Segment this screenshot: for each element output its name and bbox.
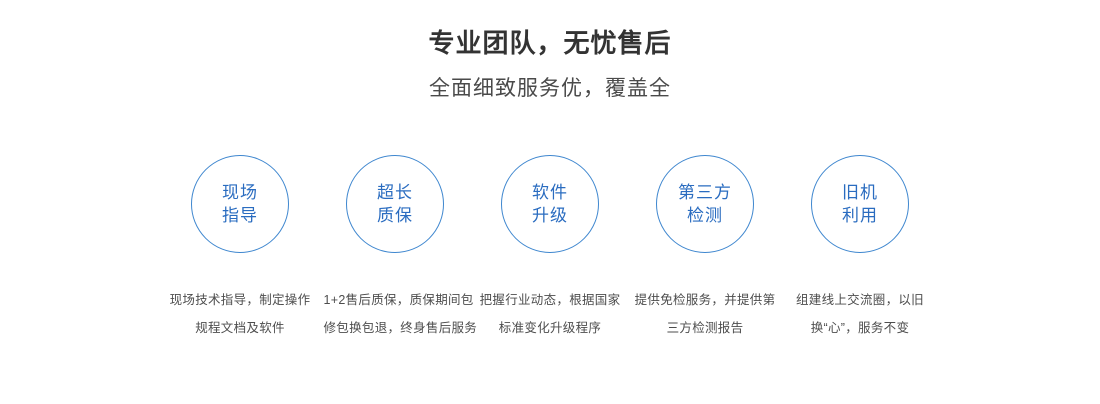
feature-description-line1: 1+2售后质保，质保期间包	[324, 286, 467, 314]
feature-description-line1: 提供免检服务，并提供第	[634, 286, 777, 314]
feature-item-extended-warranty: 超长 质保	[345, 155, 445, 253]
feature-item-third-party-inspection: 第三方 检测	[655, 155, 755, 253]
heading-block: 专业团队，无忧售后 全面细致服务优，覆盖全	[0, 0, 1100, 104]
feature-description-line1: 组建线上交流圈，以旧	[789, 286, 932, 314]
feature-circle-label-line2: 升级	[532, 204, 568, 227]
feature-circle-label-line1: 超长	[377, 181, 413, 204]
feature-circle-label-line2: 利用	[842, 204, 878, 227]
feature-circle-third-party-inspection[interactable]: 第三方 检测	[656, 155, 754, 253]
after-sales-service-section: 专业团队，无忧售后 全面细致服务优，覆盖全 现场 指导 超长 质保 软件 升级 …	[0, 0, 1100, 404]
feature-circle-label-line1: 旧机	[842, 181, 878, 204]
feature-description-on-site-guidance: 现场技术指导，制定操作 规程文档及软件	[169, 286, 312, 342]
feature-circle-old-machine-reuse[interactable]: 旧机 利用	[811, 155, 909, 253]
feature-description-software-upgrade: 把握行业动态，根据国家 标准变化升级程序	[479, 286, 622, 342]
feature-description-line2: 修包换包退，终身售后服务	[324, 314, 467, 342]
feature-item-software-upgrade: 软件 升级	[500, 155, 600, 253]
feature-description-line1: 把握行业动态，根据国家	[479, 286, 622, 314]
feature-circle-label-line2: 检测	[687, 204, 723, 227]
feature-circle-software-upgrade[interactable]: 软件 升级	[501, 155, 599, 253]
feature-circle-extended-warranty[interactable]: 超长 质保	[346, 155, 444, 253]
feature-description-third-party-inspection: 提供免检服务，并提供第 三方检测报告	[634, 286, 777, 342]
feature-item-on-site-guidance: 现场 指导	[190, 155, 290, 253]
feature-circle-label-line1: 软件	[532, 181, 568, 204]
feature-circle-on-site-guidance[interactable]: 现场 指导	[191, 155, 289, 253]
feature-description-line2: 标准变化升级程序	[479, 314, 622, 342]
feature-item-old-machine-reuse: 旧机 利用	[810, 155, 910, 253]
feature-circle-label-line1: 现场	[222, 181, 258, 204]
page-subtitle: 全面细致服务优，覆盖全	[0, 74, 1100, 104]
feature-circle-label-line2: 指导	[222, 204, 258, 227]
feature-description-line1: 现场技术指导，制定操作	[169, 286, 312, 314]
feature-description-extended-warranty: 1+2售后质保，质保期间包 修包换包退，终身售后服务	[324, 286, 467, 342]
feature-circle-label-line2: 质保	[377, 204, 413, 227]
page-title: 专业团队，无忧售后	[0, 26, 1100, 60]
feature-descriptions-row: 现场技术指导，制定操作 规程文档及软件 1+2售后质保，质保期间包 修包换包退，…	[0, 286, 1100, 342]
feature-description-line2: 三方检测报告	[634, 314, 777, 342]
feature-description-old-machine-reuse: 组建线上交流圈，以旧 换“心”，服务不变	[789, 286, 932, 342]
feature-description-line2: 规程文档及软件	[169, 314, 312, 342]
feature-circles-row: 现场 指导 超长 质保 软件 升级 第三方 检测 旧机	[0, 155, 1100, 253]
feature-description-line2: 换“心”，服务不变	[789, 314, 932, 342]
feature-circle-label-line1: 第三方	[678, 181, 732, 204]
